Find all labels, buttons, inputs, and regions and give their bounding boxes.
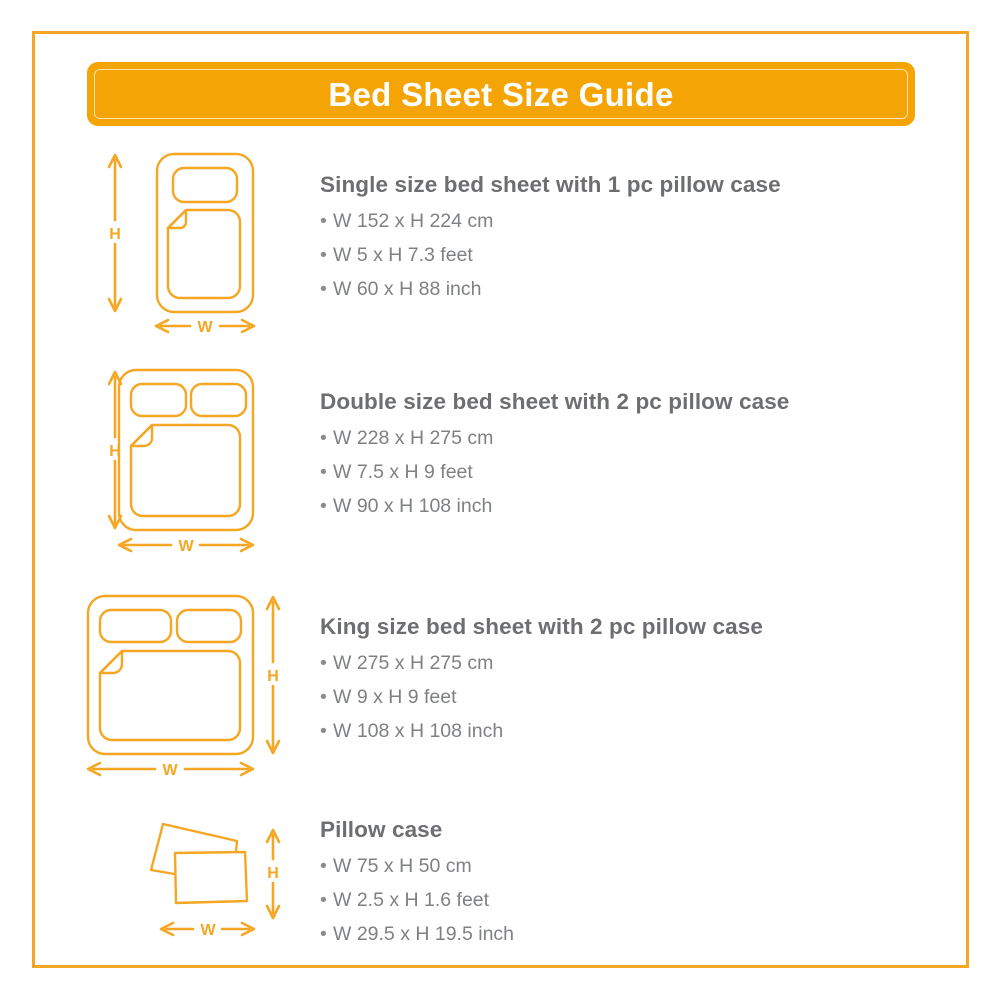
width-label: W [178,538,194,555]
page-title: Bed Sheet Size Guide [328,78,673,111]
bullet-dot: • [320,238,333,272]
title-banner-inner-border: Bed Sheet Size Guide [94,69,908,119]
width-label: W [197,319,213,336]
bullet-dot: • [320,646,333,680]
single-bed-diagram: H W [0,148,300,338]
bullet-text: W 2.5 x H 1.6 feet [333,889,489,911]
bullet-text: W 5 x H 7.3 feet [333,244,473,266]
bullet-text: W 75 x H 50 cm [333,855,472,877]
height-label: H [267,668,279,685]
section-row-king: H W King size bed sheet with 2 pc pillow… [0,588,1001,783]
bullet-text: W 29.5 x H 19.5 inch [333,923,514,945]
bullet-dot: • [320,421,333,455]
single-bed-text-block: Single size bed sheet with 1 pc pillow c… [320,170,960,306]
section-bullet-list: •W 228 x H 275 cm •W 7.5 x H 9 feet •W 9… [320,421,960,523]
height-label: H [109,226,121,243]
bullet-text: W 7.5 x H 9 feet [333,461,473,483]
king-bed-icon: H W [0,588,300,783]
bullet-text: W 275 x H 275 cm [333,652,493,674]
bullet-item: •W 275 x H 275 cm [320,646,960,680]
bullet-text: W 60 x H 88 inch [333,278,481,300]
bullet-text: W 152 x H 224 cm [333,210,493,232]
bullet-item: •W 7.5 x H 9 feet [320,455,960,489]
king-bed-text-block: King size bed sheet with 2 pc pillow cas… [320,612,960,748]
bullet-item: •W 9 x H 9 feet [320,680,960,714]
bullet-dot: • [320,272,333,306]
section-heading: Single size bed sheet with 1 pc pillow c… [320,170,960,200]
bullet-item: •W 60 x H 88 inch [320,272,960,306]
section-row-pillow-case: H W Pillow case •W 75 x H 50 cm •W 2.5 x… [0,805,1001,955]
bullet-item: •W 5 x H 7.3 feet [320,238,960,272]
section-row-double: H W Double size bed sheet with 2 pc pill… [0,363,1001,558]
bullet-dot: • [320,204,333,238]
height-label: H [267,865,279,882]
pillow-case-text-block: Pillow case •W 75 x H 50 cm •W 2.5 x H 1… [320,815,960,951]
bullet-dot: • [320,714,333,748]
title-banner: Bed Sheet Size Guide [87,62,915,126]
pillow-case-diagram: H W [0,805,300,955]
height-label: H [109,443,121,460]
width-label: W [200,922,216,939]
bullet-dot: • [320,917,333,951]
bullet-dot: • [320,455,333,489]
bullet-text: W 9 x H 9 feet [333,686,457,708]
section-bullet-list: •W 75 x H 50 cm •W 2.5 x H 1.6 feet •W 2… [320,849,960,951]
king-bed-diagram: H W [0,588,300,783]
section-bullet-list: •W 152 x H 224 cm •W 5 x H 7.3 feet •W 6… [320,204,960,306]
double-bed-diagram: H W [0,363,300,558]
bullet-dot: • [320,680,333,714]
bullet-item: •W 29.5 x H 19.5 inch [320,917,960,951]
width-label: W [162,762,178,779]
bullet-dot: • [320,849,333,883]
section-heading: Double size bed sheet with 2 pc pillow c… [320,387,960,417]
bullet-item: •W 90 x H 108 inch [320,489,960,523]
section-heading: King size bed sheet with 2 pc pillow cas… [320,612,960,642]
single-bed-icon: H W [0,148,300,338]
bullet-text: W 90 x H 108 inch [333,495,492,517]
double-bed-icon: H W [0,363,300,558]
section-heading: Pillow case [320,815,960,845]
bullet-text: W 108 x H 108 inch [333,720,503,742]
bullet-dot: • [320,489,333,523]
bullet-item: •W 228 x H 275 cm [320,421,960,455]
bullet-item: •W 2.5 x H 1.6 feet [320,883,960,917]
bullet-text: W 228 x H 275 cm [333,427,493,449]
section-row-single: H W Single size bed sheet with 1 pc pill… [0,148,1001,338]
bullet-item: •W 108 x H 108 inch [320,714,960,748]
bullet-item: •W 152 x H 224 cm [320,204,960,238]
bed-sheet-size-guide-infographic: Bed Sheet Size Guide [0,0,1001,1000]
double-bed-text-block: Double size bed sheet with 2 pc pillow c… [320,387,960,523]
section-bullet-list: •W 275 x H 275 cm •W 9 x H 9 feet •W 108… [320,646,960,748]
pillow-case-icon: H W [0,805,300,955]
bullet-item: •W 75 x H 50 cm [320,849,960,883]
bullet-dot: • [320,883,333,917]
